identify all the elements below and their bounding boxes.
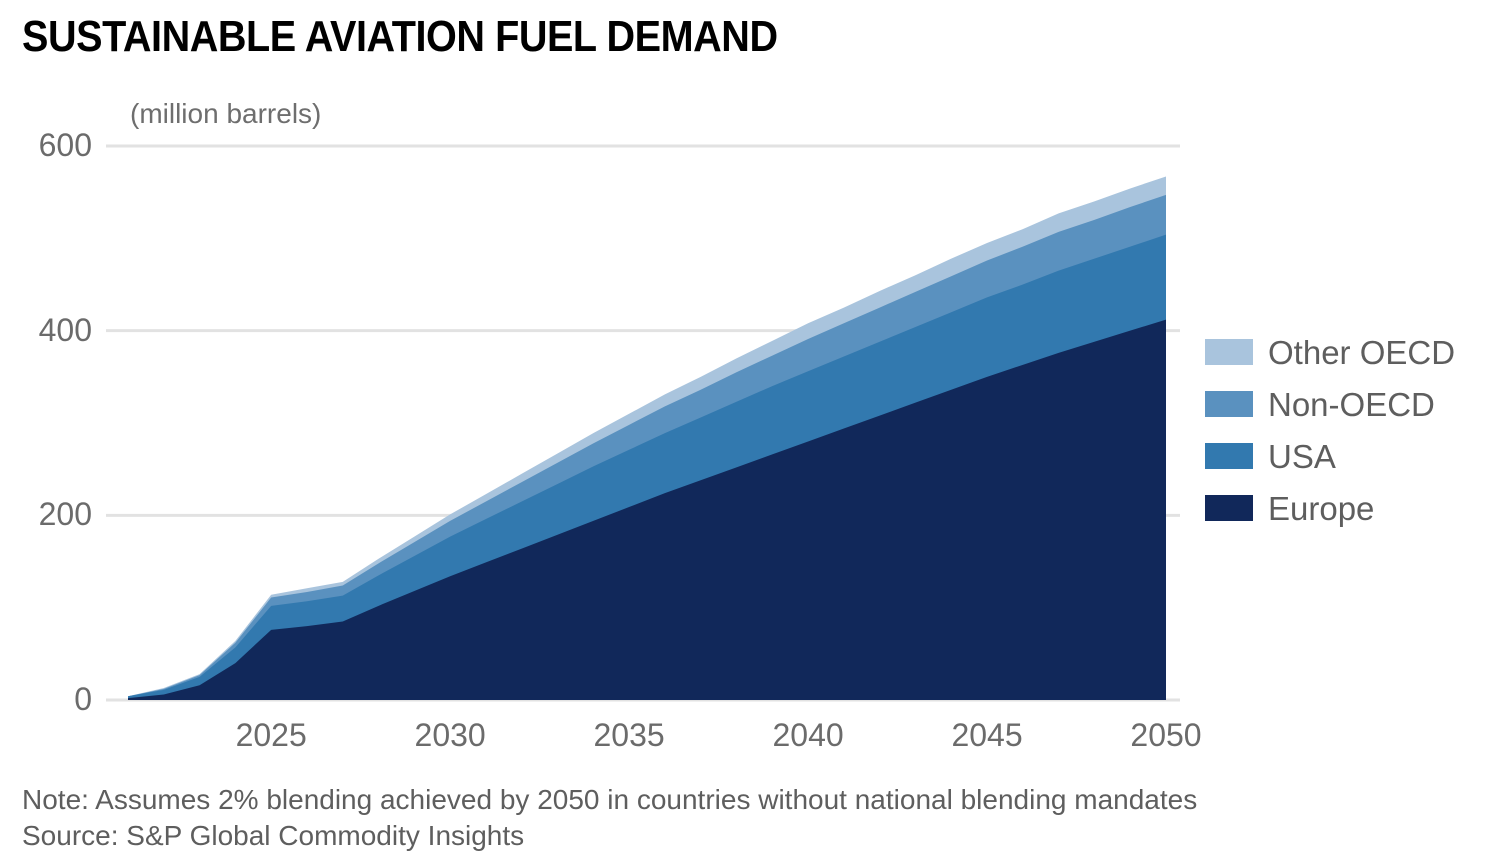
- x-axis-tick-2040: 2040: [738, 719, 878, 751]
- note-text: Note: Assumes 2% blending achieved by 20…: [22, 782, 1492, 818]
- chart-legend: Other OECDNon-OECDUSAEurope: [1205, 326, 1495, 534]
- legend-item-label: USA: [1268, 440, 1336, 473]
- chart-root: SUSTAINABLE AVIATION FUEL DEMAND (millio…: [0, 0, 1502, 868]
- legend-item-label: Other OECD: [1268, 336, 1455, 369]
- area-series-europe: [128, 320, 1166, 700]
- x-axis-tick-2025: 2025: [201, 719, 341, 751]
- x-axis-tick-2030: 2030: [380, 719, 520, 751]
- legend-swatch-icon: [1205, 339, 1253, 365]
- legend-item-non-oecd[interactable]: Non-OECD: [1205, 378, 1495, 430]
- legend-item-europe[interactable]: Europe: [1205, 482, 1495, 534]
- legend-item-other-oecd[interactable]: Other OECD: [1205, 326, 1495, 378]
- legend-item-label: Non-OECD: [1268, 388, 1435, 421]
- y-axis-tick-400: 400: [0, 314, 92, 346]
- x-axis-tick-2035: 2035: [559, 719, 699, 751]
- legend-swatch-icon: [1205, 495, 1253, 521]
- legend-swatch-icon: [1205, 391, 1253, 417]
- source-text: Source: S&P Global Commodity Insights: [22, 818, 1492, 854]
- y-axis-tick-600: 600: [0, 129, 92, 161]
- y-axis-tick-0: 0: [0, 683, 92, 715]
- legend-swatch-icon: [1205, 443, 1253, 469]
- x-axis-tick-2050: 2050: [1096, 719, 1236, 751]
- legend-item-usa[interactable]: USA: [1205, 430, 1495, 482]
- area-series-layers: [128, 176, 1166, 700]
- legend-item-label: Europe: [1268, 492, 1374, 525]
- y-axis-tick-200: 200: [0, 498, 92, 530]
- x-axis-tick-2045: 2045: [917, 719, 1057, 751]
